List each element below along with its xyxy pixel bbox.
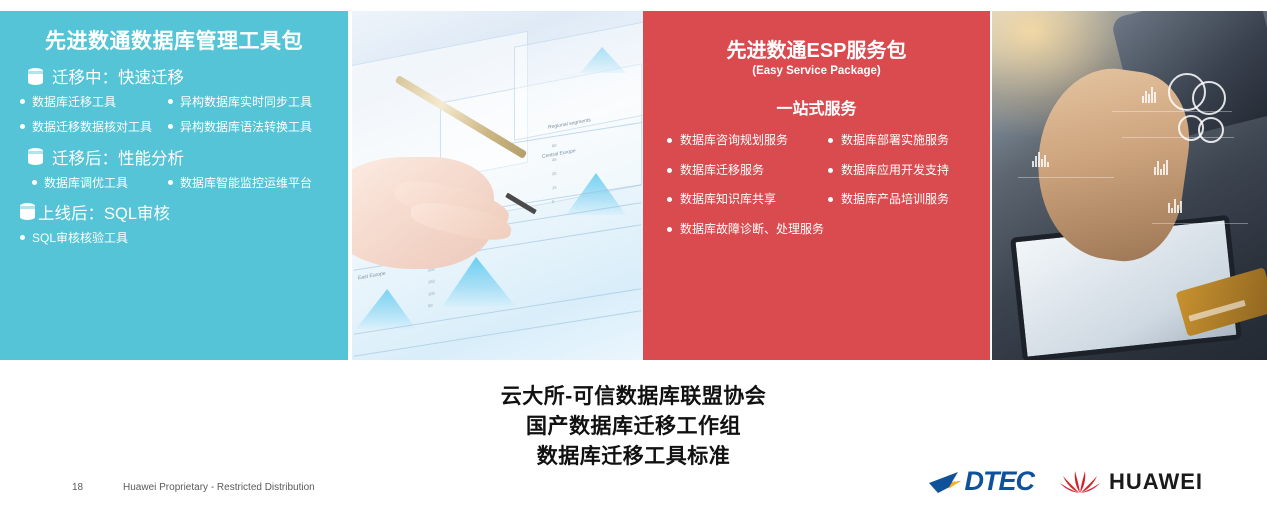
list-item-label: 数据库产品培训服务 <box>841 192 949 208</box>
teal-section-heading-migration: 迁移中：快速迁移 <box>28 64 338 88</box>
chart-label: East Europe <box>358 271 386 282</box>
bullet-dot-icon <box>667 197 672 202</box>
red-panel-subtitle: (Easy Service Package) <box>653 65 980 77</box>
list-item-label: 数据迁移数据核对工具 <box>32 119 152 135</box>
list-item-label: 数据库智能监控运维平台 <box>180 175 312 191</box>
bullet-row: 数据库故障诊断、处理服务 <box>653 222 980 238</box>
confidentiality-note: Huawei Proprietary - Restricted Distribu… <box>123 482 315 493</box>
bullet-dot-icon <box>828 168 833 173</box>
analytics-charts-photo: Regional segments Central Europe East Eu… <box>352 11 643 360</box>
teal-section-heading-text: 迁移后：性能分析 <box>52 145 184 169</box>
list-item: SQL审核核验工具 <box>20 230 168 246</box>
bullet-dot-icon <box>168 180 173 185</box>
bullet-dot-icon <box>20 235 25 240</box>
tablet-touch-photo <box>992 11 1267 360</box>
bullet-row: 数据库调优工具 数据库智能监控运维平台 <box>10 175 338 191</box>
panels-band: 先进数通数据库管理工具包 迁移中：快速迁移 数据库迁移工具 异构数据库实时同步工… <box>0 11 1267 360</box>
list-item: 数据库产品培训服务 <box>828 192 978 208</box>
list-item-label: 数据库部署实施服务 <box>841 133 949 149</box>
list-item-label: 数据库迁移服务 <box>680 163 764 179</box>
list-item: 数据库部署实施服务 <box>828 133 978 149</box>
hologram-bar-chart-icon <box>1142 85 1156 103</box>
bullet-dot-icon <box>168 99 173 104</box>
list-item: 数据库咨询规划服务 <box>667 133 828 149</box>
list-item-label: SQL审核核验工具 <box>32 230 128 246</box>
teal-section-heading-text: 迁移中：快速迁移 <box>52 64 184 88</box>
bullet-dot-icon <box>20 124 25 129</box>
red-panel-title: 先进数通ESP服务包 <box>653 39 980 63</box>
list-item: 数据库应用开发支持 <box>828 163 978 179</box>
list-item-label: 数据库迁移工具 <box>32 94 116 110</box>
teal-panel-title: 先进数通数据库管理工具包 <box>10 29 338 54</box>
teal-section-heading-performance: 迁移后：性能分析 <box>28 145 338 169</box>
bullet-row: 数据库迁移服务 数据库应用开发支持 <box>653 163 980 179</box>
teal-bullets-migration: 数据库迁移工具 异构数据库实时同步工具 数据迁移数据核对工具 异构数据库语法转换… <box>10 94 338 135</box>
page-title-line-2: 国产数据库迁移工作组 <box>0 412 1267 442</box>
list-item-label: 数据库故障诊断、处理服务 <box>680 222 824 238</box>
list-item: 数据库迁移工具 <box>20 94 168 110</box>
bullet-row: 数据库迁移工具 异构数据库实时同步工具 <box>10 94 338 110</box>
bullet-row: 数据迁移数据核对工具 异构数据库语法转换工具 <box>10 119 338 135</box>
list-item-label: 数据库调优工具 <box>44 175 128 191</box>
red-panel-section-heading: 一站式服务 <box>653 95 980 119</box>
logo-group: DTEC HUAWEI <box>928 466 1204 497</box>
hologram-bar-chart-icon <box>1168 197 1182 213</box>
teal-panel-database-toolkit: 先进数通数据库管理工具包 迁移中：快速迁移 数据库迁移工具 异构数据库实时同步工… <box>0 11 348 360</box>
list-item-label: 数据库咨询规划服务 <box>680 133 788 149</box>
bullet-dot-icon <box>667 168 672 173</box>
huawei-flower-icon <box>1060 468 1100 496</box>
teal-bullets-performance: 数据库调优工具 数据库智能监控运维平台 <box>10 175 338 191</box>
teal-bullets-sqlaudit: SQL审核核验工具 <box>10 230 338 246</box>
bullet-row: SQL审核核验工具 <box>10 230 338 246</box>
bullet-dot-icon <box>667 138 672 143</box>
database-icon <box>20 203 35 220</box>
bullet-dot-icon <box>828 197 833 202</box>
list-item: 数据库调优工具 <box>32 175 168 191</box>
page-title-line-1: 云大所-可信数据库联盟协会 <box>0 382 1267 412</box>
page-title: 云大所-可信数据库联盟协会 国产数据库迁移工作组 数据库迁移工具标准 <box>0 382 1267 471</box>
page-number: 18 <box>72 482 83 493</box>
hologram-circle-icon <box>1192 81 1226 115</box>
list-item-label: 异构数据库语法转换工具 <box>180 119 312 135</box>
huawei-logo-text: HUAWEI <box>1109 469 1203 495</box>
hologram-bar-chart-icon <box>1032 151 1049 167</box>
list-item: 数据库智能监控运维平台 <box>168 175 338 191</box>
slide-canvas: 先进数通数据库管理工具包 迁移中：快速迁移 数据库迁移工具 异构数据库实时同步工… <box>0 0 1267 510</box>
bullet-dot-icon <box>32 180 37 185</box>
teal-section-heading-text: 上线后：SQL审核 <box>38 200 170 224</box>
bullet-dot-icon <box>20 99 25 104</box>
list-item-label: 数据库知识库共享 <box>680 192 776 208</box>
hologram-bar-chart-icon <box>1154 159 1168 175</box>
bullet-dot-icon <box>828 138 833 143</box>
list-item: 异构数据库语法转换工具 <box>168 119 338 135</box>
dtec-logo: DTEC <box>928 466 1035 497</box>
list-item: 数据库故障诊断、处理服务 <box>667 222 828 238</box>
database-icon <box>28 148 43 165</box>
red-panel-esp-service: 先进数通ESP服务包 (Easy Service Package) 一站式服务 … <box>643 11 990 360</box>
list-item-label: 数据库应用开发支持 <box>841 163 949 179</box>
hologram-circle-icon <box>1198 117 1224 143</box>
list-item: 数据迁移数据核对工具 <box>20 119 168 135</box>
bullet-row: 数据库咨询规划服务 数据库部署实施服务 <box>653 133 980 149</box>
list-item: 数据库知识库共享 <box>667 192 828 208</box>
list-item: 数据库迁移服务 <box>667 163 828 179</box>
dtec-arrow-icon <box>928 469 964 495</box>
bullet-dot-icon <box>168 124 173 129</box>
bullet-row: 数据库知识库共享 数据库产品培训服务 <box>653 192 980 208</box>
list-item-label: 异构数据库实时同步工具 <box>180 94 312 110</box>
database-icon <box>28 68 43 85</box>
bullet-dot-icon <box>667 227 672 232</box>
teal-section-heading-sqlaudit: 上线后：SQL审核 <box>20 200 338 224</box>
dtec-logo-text: DTEC <box>965 466 1035 497</box>
list-item: 异构数据库实时同步工具 <box>168 94 338 110</box>
huawei-logo: HUAWEI <box>1060 468 1203 496</box>
